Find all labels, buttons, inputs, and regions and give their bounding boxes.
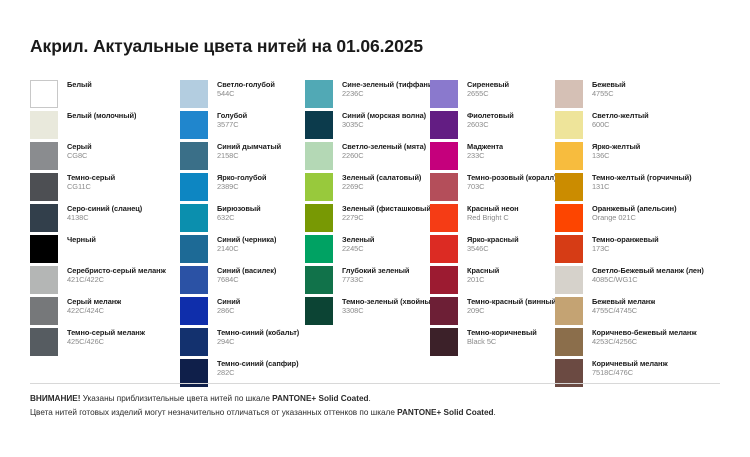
color-swatch[interactable]	[430, 80, 458, 108]
page-title: Акрил. Актуальные цвета нитей на 01.06.2…	[30, 36, 423, 57]
color-pantone-code: 4755C/4745C	[592, 307, 655, 315]
color-name: Зеленый	[342, 236, 374, 244]
color-pantone-code: Orange 021C	[592, 214, 677, 222]
color-labels: Зеленый (фисташковый)2279C	[333, 204, 430, 222]
color-swatch[interactable]	[555, 173, 583, 201]
color-swatch[interactable]	[30, 80, 58, 108]
color-row[interactable]: Сине-зеленый (тиффани)2236C	[305, 80, 430, 111]
color-swatch[interactable]	[305, 111, 333, 139]
color-name: Фиолетовый	[467, 112, 514, 120]
color-swatch[interactable]	[555, 297, 583, 325]
footer-note: ВНИМАНИЕ! Указаны приблизительные цвета …	[30, 392, 730, 419]
color-chart-page: Акрил. Актуальные цвета нитей на 01.06.2…	[0, 0, 750, 457]
color-row[interactable]: Синий (морская волна)3035C	[305, 111, 430, 142]
color-row[interactable]: Темно-синий (сапфир)282C	[180, 359, 305, 390]
color-column-3: Сиреневый2655CФиолетовый2603CМаджента233…	[430, 80, 555, 359]
color-swatch[interactable]	[30, 204, 58, 232]
color-name: Коричнево-бежевый меланж	[592, 329, 697, 337]
color-swatch[interactable]	[430, 235, 458, 263]
footer-line-2: Цвета нитей готовых изделий могут незнач…	[30, 406, 730, 420]
color-name: Синий (василек)	[217, 267, 276, 275]
color-pantone-code: 7733C	[342, 276, 409, 284]
color-row[interactable]: Коричневый меланж7518C/476C	[555, 359, 710, 390]
color-labels: Темно-желтый (горчичный)131C	[583, 173, 692, 191]
footer-line-1: ВНИМАНИЕ! Указаны приблизительные цвета …	[30, 392, 730, 406]
color-name: Зеленый (салатовый)	[342, 174, 421, 182]
footer-line-2-text: Цвета нитей готовых изделий могут незнач…	[30, 408, 397, 417]
color-row[interactable]: Темно-розовый (коралл)703C	[430, 173, 555, 204]
color-labels: Синий дымчатый2158C	[208, 142, 281, 160]
color-swatch[interactable]	[555, 328, 583, 356]
color-row[interactable]: Бежевый4755C	[555, 80, 710, 111]
color-name: Светло-голубой	[217, 81, 275, 89]
color-pantone-code: 4755C	[592, 90, 626, 98]
color-swatch[interactable]	[30, 235, 58, 263]
color-swatch[interactable]	[430, 204, 458, 232]
color-pantone-code: CG11C	[67, 183, 115, 191]
color-row[interactable]: Голубой3577C	[180, 111, 305, 142]
color-pantone-code: 2389C	[217, 183, 266, 191]
color-pantone-code: 2158C	[217, 152, 281, 160]
color-pantone-code: 282C	[217, 369, 299, 377]
color-name: Коричневый меланж	[592, 360, 668, 368]
color-swatch[interactable]	[30, 266, 58, 294]
color-column-0: БелыйБелый (молочный)СерыйCG8CТемно-серы…	[30, 80, 180, 359]
color-row[interactable]: Серый меланж422C/424C	[30, 297, 180, 328]
color-row[interactable]: Сиреневый2655C	[430, 80, 555, 111]
color-labels: Бежевый4755C	[583, 80, 626, 98]
color-row[interactable]: Синий (василек)7684C	[180, 266, 305, 297]
color-labels: Зеленый2245C	[333, 235, 374, 253]
footer-line-1-suffix: .	[369, 394, 371, 403]
color-column-2: Сине-зеленый (тиффани)2236CСиний (морска…	[305, 80, 430, 328]
color-name: Темно-желтый (горчичный)	[592, 174, 692, 182]
footer-line-1-text: Указаны приблизительные цвета нитей по ш…	[80, 394, 272, 403]
color-swatch[interactable]	[305, 204, 333, 232]
color-labels: Серо-синий (сланец)4138C	[58, 204, 142, 222]
color-name: Серый	[67, 143, 92, 151]
color-pantone-code: Red Bright C	[467, 214, 519, 222]
color-pantone-code: 286C	[217, 307, 240, 315]
color-row[interactable]: Оранжевый (апельсин)Orange 021C	[555, 204, 710, 235]
color-name: Глубокий зеленый	[342, 267, 409, 275]
color-name: Голубой	[217, 112, 247, 120]
color-pantone-code: 632C	[217, 214, 261, 222]
color-row[interactable]: Светло-Бежевый меланж (лен)4085C/WG1C	[555, 266, 710, 297]
color-labels: Темно-синий (кобальт)294C	[208, 328, 299, 346]
color-labels: Темно-розовый (коралл)703C	[458, 173, 555, 191]
color-name: Ярко-голубой	[217, 174, 266, 182]
color-pantone-code: 209C	[467, 307, 555, 315]
color-name: Сине-зеленый (тиффани)	[342, 81, 430, 89]
color-pantone-code: 3577C	[217, 121, 247, 129]
color-labels: Белый	[58, 80, 92, 89]
color-pantone-code: 136C	[592, 152, 640, 160]
color-swatch[interactable]	[180, 142, 208, 170]
color-pantone-code: 422C/424C	[67, 307, 121, 315]
color-row[interactable]: Маджента233C	[430, 142, 555, 173]
color-swatch[interactable]	[180, 266, 208, 294]
color-pantone-code: 425C/426C	[67, 338, 145, 346]
color-labels: Темно-серый меланж425C/426C	[58, 328, 145, 346]
color-swatch[interactable]	[305, 297, 333, 325]
color-labels: Глубокий зеленый7733C	[333, 266, 409, 284]
color-row[interactable]: Глубокий зеленый7733C	[305, 266, 430, 297]
footer-line-2-suffix: .	[494, 408, 496, 417]
color-row[interactable]: Ярко-голубой2389C	[180, 173, 305, 204]
color-pantone-code: 4085C/WG1C	[592, 276, 704, 284]
color-pantone-code: 2140C	[217, 245, 276, 253]
color-column-1: Светло-голубой544CГолубой3577CСиний дымч…	[180, 80, 305, 390]
color-row[interactable]: Зеленый2245C	[305, 235, 430, 266]
color-row[interactable]: Темно-красный (винный)209C	[430, 297, 555, 328]
color-name: Темно-оранжевый	[592, 236, 659, 244]
color-name: Белый	[67, 81, 92, 89]
color-pantone-code: 294C	[217, 338, 299, 346]
color-name: Темно-зеленый (хвойный)	[342, 298, 430, 306]
color-name: Светло-Бежевый меланж (лен)	[592, 267, 704, 275]
color-pantone-code: 421C/422C	[67, 276, 166, 284]
color-swatch[interactable]	[180, 297, 208, 325]
color-swatch[interactable]	[180, 235, 208, 263]
color-name: Бежевый меланж	[592, 298, 655, 306]
color-name: Синий	[217, 298, 240, 306]
color-row[interactable]: Светло-желтый600C	[555, 111, 710, 142]
color-labels: Ярко-красный3546C	[458, 235, 519, 253]
color-pantone-code: 600C	[592, 121, 649, 129]
color-row[interactable]: Темно-синий (кобальт)294C	[180, 328, 305, 359]
footer-line-1-pantone: PANTONE+ Solid Coated	[272, 394, 368, 403]
color-pantone-code: 2279C	[342, 214, 430, 222]
color-swatch[interactable]	[555, 80, 583, 108]
color-swatch[interactable]	[555, 111, 583, 139]
color-row[interactable]: Темно-серыйCG11C	[30, 173, 180, 204]
color-swatch[interactable]	[30, 328, 58, 356]
color-pantone-code: 2245C	[342, 245, 374, 253]
color-swatch[interactable]	[430, 328, 458, 356]
color-swatch[interactable]	[30, 173, 58, 201]
color-pantone-code: 3035C	[342, 121, 426, 129]
color-swatch[interactable]	[430, 297, 458, 325]
color-labels: Светло-желтый600C	[583, 111, 649, 129]
color-labels: Красный неонRed Bright C	[458, 204, 519, 222]
color-labels: Светло-голубой544C	[208, 80, 275, 98]
color-name: Ярко-красный	[467, 236, 519, 244]
color-labels: Бежевый меланж4755C/4745C	[583, 297, 655, 315]
color-pantone-code: Black 5C	[467, 338, 537, 346]
color-row[interactable]: Бирюзовый632C	[180, 204, 305, 235]
color-labels: Белый (молочный)	[58, 111, 136, 120]
color-labels: Темно-красный (винный)209C	[458, 297, 555, 315]
color-labels: Светло-зеленый (мята)2260C	[333, 142, 426, 160]
color-name: Темно-синий (сапфир)	[217, 360, 299, 368]
color-name: Бежевый	[592, 81, 626, 89]
color-labels: Темно-серыйCG11C	[58, 173, 115, 191]
color-swatch-grid: БелыйБелый (молочный)СерыйCG8CТемно-серы…	[30, 80, 730, 390]
footer-attention-label: ВНИМАНИЕ!	[30, 394, 80, 403]
color-row[interactable]: Белый	[30, 80, 180, 111]
color-labels: Маджента233C	[458, 142, 503, 160]
color-pantone-code: 173C	[592, 245, 659, 253]
color-pantone-code: 2603C	[467, 121, 514, 129]
color-labels: Сиреневый2655C	[458, 80, 509, 98]
color-swatch[interactable]	[555, 235, 583, 263]
color-swatch[interactable]	[30, 142, 58, 170]
color-name: Светло-желтый	[592, 112, 649, 120]
color-name: Темно-серый меланж	[67, 329, 145, 337]
color-labels: Синий (василек)7684C	[208, 266, 276, 284]
color-row[interactable]: Темно-оранжевый173C	[555, 235, 710, 266]
color-row[interactable]: Темно-зеленый (хвойный)3308C	[305, 297, 430, 328]
color-swatch[interactable]	[430, 173, 458, 201]
color-row[interactable]: Светло-голубой544C	[180, 80, 305, 111]
color-row[interactable]: Бежевый меланж4755C/4745C	[555, 297, 710, 328]
color-labels: Синий (черника)2140C	[208, 235, 276, 253]
color-swatch[interactable]	[430, 266, 458, 294]
color-name: Темно-коричневый	[467, 329, 537, 337]
color-labels: Черный	[58, 235, 96, 244]
color-name: Белый (молочный)	[67, 112, 136, 120]
color-name: Серо-синий (сланец)	[67, 205, 142, 213]
color-labels: Темно-зеленый (хвойный)3308C	[333, 297, 430, 315]
color-name: Темно-синий (кобальт)	[217, 329, 299, 337]
color-pantone-code: 544C	[217, 90, 275, 98]
color-name: Ярко-желтый	[592, 143, 640, 151]
color-row[interactable]: Синий дымчатый2158C	[180, 142, 305, 173]
footer-line-2-pantone: PANTONE+ Solid Coated	[397, 408, 493, 417]
color-labels: Светло-Бежевый меланж (лен)4085C/WG1C	[583, 266, 704, 284]
color-pantone-code: 4138C	[67, 214, 142, 222]
color-row[interactable]: Ярко-желтый136C	[555, 142, 710, 173]
color-row[interactable]: Темно-серый меланж425C/426C	[30, 328, 180, 359]
color-labels: Фиолетовый2603C	[458, 111, 514, 129]
color-swatch[interactable]	[305, 80, 333, 108]
color-labels: Ярко-желтый136C	[583, 142, 640, 160]
color-swatch[interactable]	[430, 111, 458, 139]
color-row[interactable]: Серо-синий (сланец)4138C	[30, 204, 180, 235]
color-labels: Бирюзовый632C	[208, 204, 261, 222]
color-labels: Серебристо-серый меланж421C/422C	[58, 266, 166, 284]
color-labels: Красный201C	[458, 266, 499, 284]
color-name: Синий (морская волна)	[342, 112, 426, 120]
color-name: Синий дымчатый	[217, 143, 281, 151]
color-pantone-code: 2236C	[342, 90, 430, 98]
color-pantone-code: 2269C	[342, 183, 421, 191]
color-pantone-code: 131C	[592, 183, 692, 191]
color-labels: Коричневый меланж7518C/476C	[583, 359, 668, 377]
color-pantone-code: 703C	[467, 183, 555, 191]
color-swatch[interactable]	[180, 111, 208, 139]
color-labels: Синий286C	[208, 297, 240, 315]
color-row[interactable]: Фиолетовый2603C	[430, 111, 555, 142]
color-swatch[interactable]	[305, 173, 333, 201]
color-pantone-code: 201C	[467, 276, 499, 284]
color-swatch[interactable]	[555, 142, 583, 170]
color-name: Светло-зеленый (мята)	[342, 143, 426, 151]
color-labels: Синий (морская волна)3035C	[333, 111, 426, 129]
color-pantone-code: 7518C/476C	[592, 369, 668, 377]
color-swatch[interactable]	[555, 204, 583, 232]
color-name: Черный	[67, 236, 96, 244]
color-swatch[interactable]	[180, 80, 208, 108]
footer-divider	[30, 383, 720, 384]
color-pantone-code: 233C	[467, 152, 503, 160]
color-swatch[interactable]	[30, 297, 58, 325]
color-name: Темно-серый	[67, 174, 115, 182]
color-swatch[interactable]	[305, 235, 333, 263]
color-name: Синий (черника)	[217, 236, 276, 244]
color-name: Темно-красный (винный)	[467, 298, 555, 306]
color-name: Красный	[467, 267, 499, 275]
color-name: Серебристо-серый меланж	[67, 267, 166, 275]
color-labels: Оранжевый (апельсин)Orange 021C	[583, 204, 677, 222]
color-name: Сиреневый	[467, 81, 509, 89]
color-pantone-code: 7684C	[217, 276, 276, 284]
color-column-4: Бежевый4755CСветло-желтый600CЯрко-желтый…	[555, 80, 710, 390]
color-swatch[interactable]	[180, 204, 208, 232]
color-swatch[interactable]	[305, 142, 333, 170]
color-pantone-code: 2260C	[342, 152, 426, 160]
color-row[interactable]: Зеленый (салатовый)2269C	[305, 173, 430, 204]
color-row[interactable]: Серебристо-серый меланж421C/422C	[30, 266, 180, 297]
color-row[interactable]: Красный201C	[430, 266, 555, 297]
color-row[interactable]: Светло-зеленый (мята)2260C	[305, 142, 430, 173]
color-labels: Коричнево-бежевый меланж4253C/4256C	[583, 328, 697, 346]
color-swatch[interactable]	[555, 266, 583, 294]
color-row[interactable]: СерыйCG8C	[30, 142, 180, 173]
color-name: Маджента	[467, 143, 503, 151]
color-labels: Зеленый (салатовый)2269C	[333, 173, 421, 191]
color-labels: СерыйCG8C	[58, 142, 92, 160]
color-row[interactable]: Ярко-красный3546C	[430, 235, 555, 266]
color-labels: Темно-синий (сапфир)282C	[208, 359, 299, 377]
color-labels: Серый меланж422C/424C	[58, 297, 121, 315]
color-labels: Голубой3577C	[208, 111, 247, 129]
color-name: Оранжевый (апельсин)	[592, 205, 677, 213]
color-swatch[interactable]	[30, 111, 58, 139]
color-labels: Ярко-голубой2389C	[208, 173, 266, 191]
color-row[interactable]: Темно-коричневыйBlack 5C	[430, 328, 555, 359]
color-row[interactable]: Зеленый (фисташковый)2279C	[305, 204, 430, 235]
color-pantone-code: CG8C	[67, 152, 92, 160]
color-name: Темно-розовый (коралл)	[467, 174, 555, 182]
color-pantone-code: 3546C	[467, 245, 519, 253]
color-labels: Темно-коричневыйBlack 5C	[458, 328, 537, 346]
color-swatch[interactable]	[305, 266, 333, 294]
color-row[interactable]: Синий (черника)2140C	[180, 235, 305, 266]
color-row[interactable]: Белый (молочный)	[30, 111, 180, 142]
color-row[interactable]: Темно-желтый (горчичный)131C	[555, 173, 710, 204]
color-row[interactable]: Коричнево-бежевый меланж4253C/4256C	[555, 328, 710, 359]
color-name: Красный неон	[467, 205, 519, 213]
color-row[interactable]: Красный неонRed Bright C	[430, 204, 555, 235]
color-swatch[interactable]	[430, 142, 458, 170]
color-name: Серый меланж	[67, 298, 121, 306]
color-pantone-code: 3308C	[342, 307, 430, 315]
color-swatch[interactable]	[180, 173, 208, 201]
color-labels: Темно-оранжевый173C	[583, 235, 659, 253]
color-name: Бирюзовый	[217, 205, 261, 213]
color-row[interactable]: Черный	[30, 235, 180, 266]
color-labels: Сине-зеленый (тиффани)2236C	[333, 80, 430, 98]
color-row[interactable]: Синий286C	[180, 297, 305, 328]
color-swatch[interactable]	[180, 328, 208, 356]
color-name: Зеленый (фисташковый)	[342, 205, 430, 213]
color-pantone-code: 2655C	[467, 90, 509, 98]
color-pantone-code: 4253C/4256C	[592, 338, 697, 346]
